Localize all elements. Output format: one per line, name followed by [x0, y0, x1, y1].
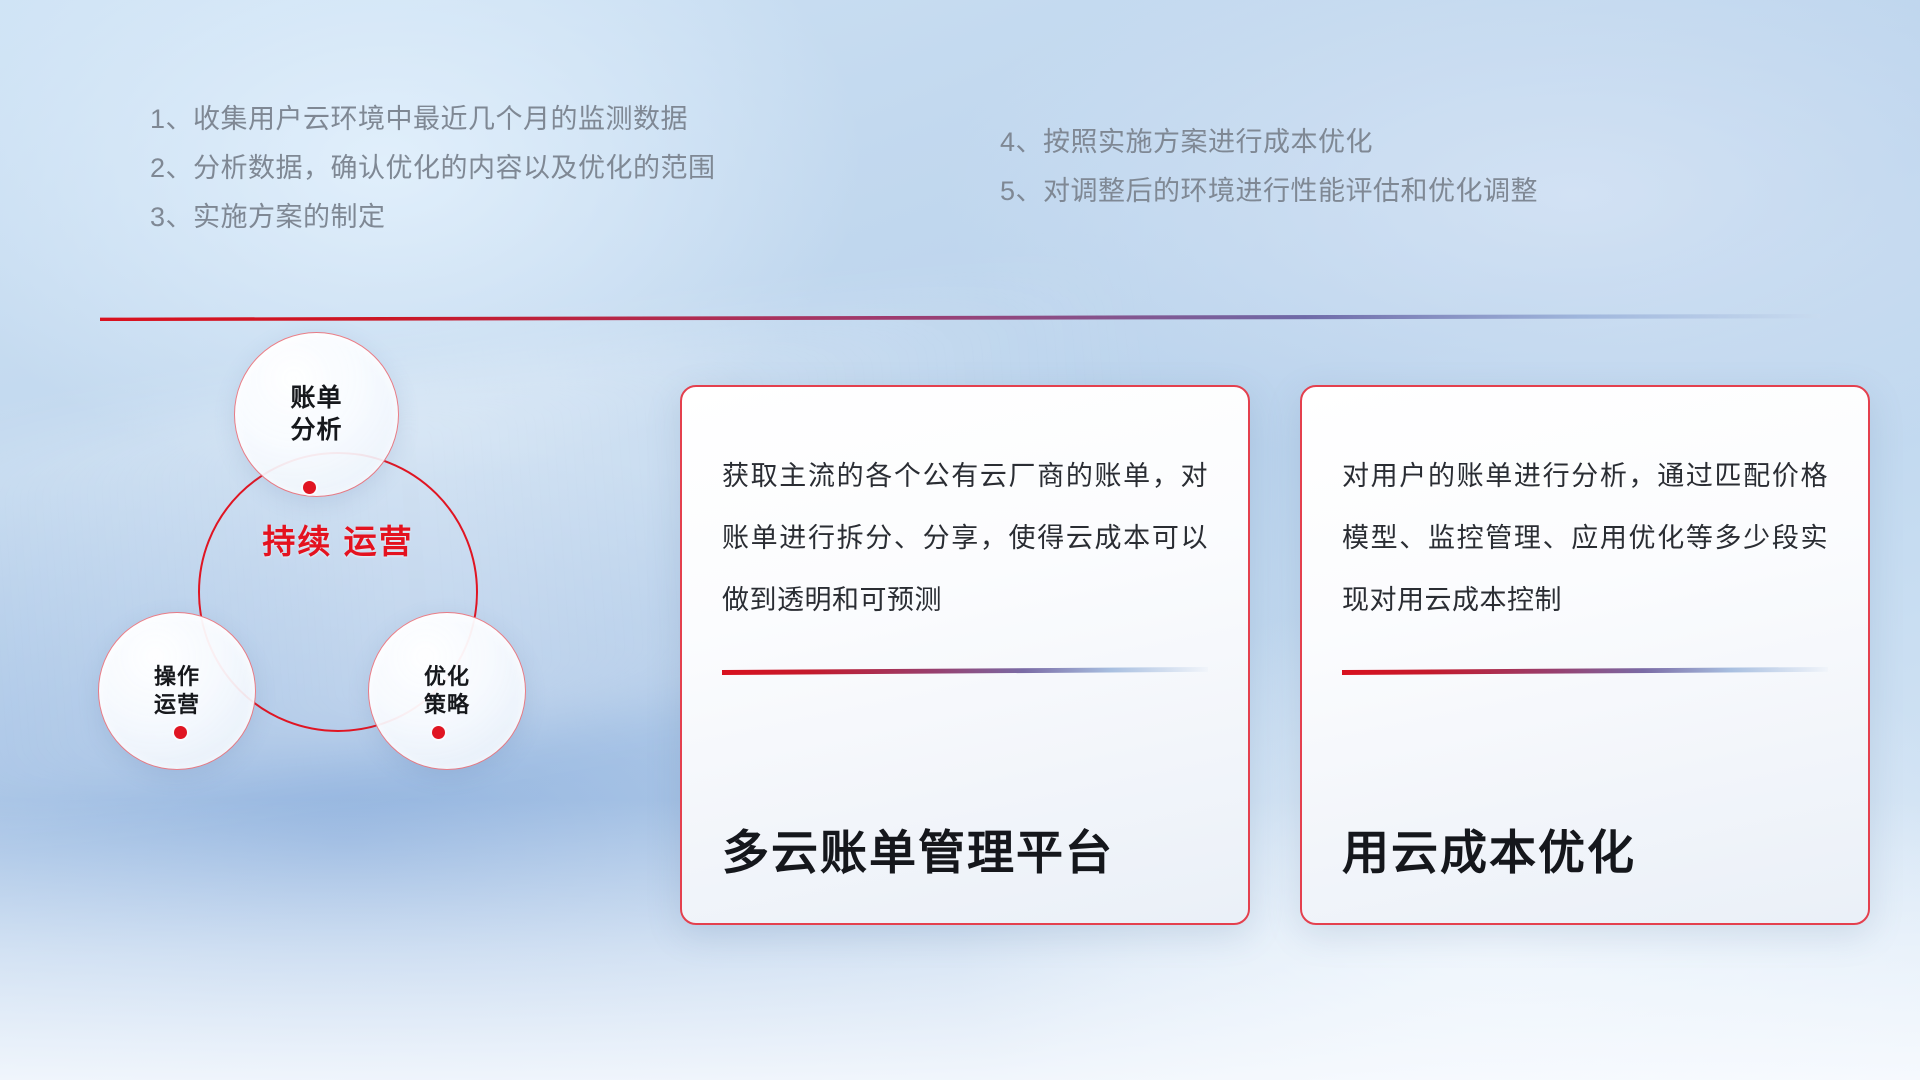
venn-bubble-operation-line2: 运营: [154, 691, 200, 719]
venn-bubble-optimization-strategy-line1: 优化: [424, 663, 470, 691]
venn-node-dot-left: [174, 726, 187, 739]
venn-bubble-bill-analysis-line1: 账单: [290, 383, 342, 415]
venn-bubble-bill-analysis[interactable]: 账单 分析: [234, 332, 399, 497]
step-item-2: 2、分析数据，确认优化的内容以及优化的范围: [150, 144, 716, 193]
card-title: 多云账单管理平台: [722, 814, 1208, 889]
venn-node-dot-top: [303, 481, 316, 494]
card-title: 用云成本优化: [1342, 814, 1828, 889]
venn-bubble-optimization-strategy-line2: 策略: [424, 691, 470, 719]
venn-bubble-operation-line1: 操作: [154, 663, 200, 691]
step-item-3: 3、实施方案的制定: [150, 193, 716, 242]
venn-center-label-line1: 持续: [262, 523, 332, 560]
steps-left-column: 1、收集用户云环境中最近几个月的监测数据 2、分析数据，确认优化的内容以及优化的…: [150, 95, 716, 242]
card-divider: [1342, 667, 1828, 675]
step-item-5: 5、对调整后的环境进行性能评估和优化调整: [1000, 167, 1538, 216]
card-body-text: 获取主流的各个公有云厂商的账单，对账单进行拆分、分享，使得云成本可以做到透明和可…: [722, 445, 1208, 631]
venn-bubble-operation[interactable]: 操作 运营: [98, 612, 256, 770]
venn-bubble-optimization-strategy[interactable]: 优化 策略: [368, 612, 526, 770]
card-body-text: 对用户的账单进行分析，通过匹配价格模型、监控管理、应用优化等多少段实现对用云成本…: [1342, 445, 1828, 631]
step-item-4: 4、按照实施方案进行成本优化: [1000, 118, 1538, 167]
venn-center-label-line2: 运营: [344, 523, 414, 560]
venn-diagram: 持续 运营 账单 分析 操作 运营 优化 策略: [90, 340, 560, 810]
step-item-1: 1、收集用户云环境中最近几个月的监测数据: [150, 95, 716, 144]
venn-bubble-bill-analysis-line2: 分析: [290, 415, 342, 447]
card-cloud-cost-optimization[interactable]: 对用户的账单进行分析，通过匹配价格模型、监控管理、应用优化等多少段实现对用云成本…: [1300, 385, 1870, 925]
venn-node-dot-right: [432, 726, 445, 739]
steps-right-column: 4、按照实施方案进行成本优化 5、对调整后的环境进行性能评估和优化调整: [1000, 118, 1538, 216]
card-divider: [722, 667, 1208, 675]
venn-center-label: 持续 运营: [198, 520, 478, 564]
card-multi-cloud-bill-platform[interactable]: 获取主流的各个公有云厂商的账单，对账单进行拆分、分享，使得云成本可以做到透明和可…: [680, 385, 1250, 925]
